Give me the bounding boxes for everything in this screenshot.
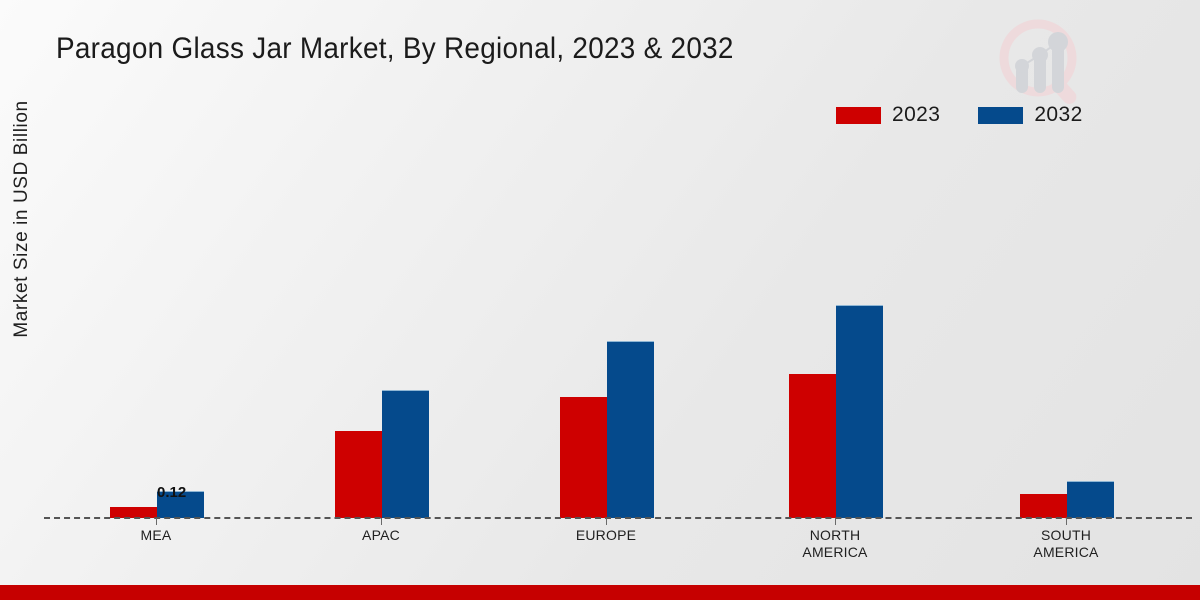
x-axis-label-mea-line1: MEA xyxy=(56,527,256,544)
x-axis-label-north-america-line2: AMERICA xyxy=(735,544,935,561)
legend-label-2032: 2032 xyxy=(1034,103,1082,127)
value-label-mea-2023: 0.12 xyxy=(157,484,186,501)
chart-canvas: Paragon Glass Jar Market, By Regional, 2… xyxy=(0,0,1200,600)
x-axis-label-apac-line1: APAC xyxy=(281,527,481,544)
legend-item-2032[interactable]: 2032 xyxy=(978,103,1082,127)
bar-apac-2032[interactable] xyxy=(382,390,429,518)
y-axis-title: Market Size in USD Billion xyxy=(11,49,33,389)
x-axis-label-europe: EUROPE xyxy=(506,527,706,544)
legend-swatch-2023 xyxy=(836,107,881,124)
x-axis-label-mea: MEA xyxy=(56,527,256,544)
plot-area: 0.12 xyxy=(44,140,1192,518)
magnifier-bar-chart-logo-icon xyxy=(996,18,1092,110)
legend-item-2023[interactable]: 2023 xyxy=(836,103,940,127)
bar-group-europe xyxy=(560,341,654,518)
bar-group-south-america xyxy=(1020,481,1114,518)
bar-europe-2032[interactable] xyxy=(607,341,654,518)
legend-label-2023: 2023 xyxy=(892,103,940,127)
x-axis-label-north-america-line1: NORTH xyxy=(735,527,935,544)
bar-south-america-2032[interactable] xyxy=(1067,481,1114,518)
x-axis-tick-south-america xyxy=(1066,518,1067,525)
x-axis-label-north-america: NORTH AMERICA xyxy=(735,527,935,561)
x-axis-label-south-america-line1: SOUTH xyxy=(966,527,1166,544)
bar-group-apac xyxy=(335,390,429,518)
x-axis-label-apac: APAC xyxy=(281,527,481,544)
x-axis-label-europe-line1: EUROPE xyxy=(506,527,706,544)
x-axis-tick-north-america xyxy=(835,518,836,525)
bar-north-america-2023[interactable] xyxy=(789,374,836,518)
x-axis-tick-mea xyxy=(156,518,157,525)
x-axis-label-south-america: SOUTH AMERICA xyxy=(966,527,1166,561)
bar-north-america-2032[interactable] xyxy=(836,305,883,518)
x-axis-baseline xyxy=(44,517,1192,519)
chart-title: Paragon Glass Jar Market, By Regional, 2… xyxy=(56,32,734,66)
chart-legend: 2023 2032 xyxy=(836,103,1083,127)
bar-europe-2023[interactable] xyxy=(560,397,607,518)
x-axis-tick-apac xyxy=(381,518,382,525)
x-axis-label-south-america-line2: AMERICA xyxy=(966,544,1166,561)
bottom-accent-strip xyxy=(0,585,1200,600)
bar-apac-2023[interactable] xyxy=(335,431,382,518)
x-axis-tick-europe xyxy=(606,518,607,525)
bar-group-north-america xyxy=(789,305,883,518)
bar-south-america-2023[interactable] xyxy=(1020,494,1067,518)
legend-swatch-2032 xyxy=(978,107,1023,124)
